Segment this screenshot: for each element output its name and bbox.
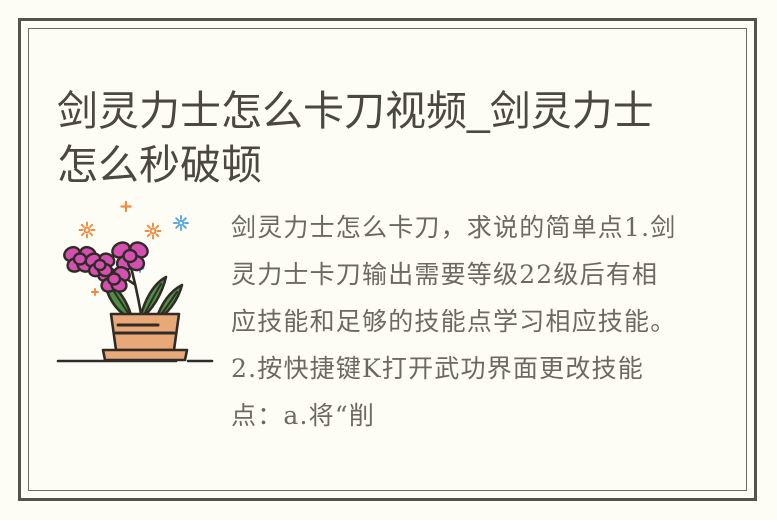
orchid-flower-mid-left <box>84 251 117 278</box>
article-body-text: 剑灵力士怎么卡刀，求说的简单点1.剑灵力士卡刀输出需要等级22级后有相应技能和足… <box>231 204 683 439</box>
sparkle-icon-blue-top-right <box>174 216 188 230</box>
potted-orchid-illustration <box>48 192 218 370</box>
sparkle-icon-orange-small <box>92 289 98 295</box>
flower-pot <box>103 314 187 360</box>
sparkle-icon-orange-top <box>122 202 131 211</box>
article-content-row: 剑灵力士怎么卡刀，求说的简单点1.剑灵力士卡刀输出需要等级22级后有相应技能和足… <box>48 192 708 472</box>
page-title: 剑灵力士怎么卡刀视频_剑灵力士怎么秒破顿 <box>57 84 677 192</box>
orchid-flower-top <box>110 240 150 273</box>
article-card: 剑灵力士怎么卡刀视频_剑灵力士怎么秒破顿 <box>0 0 777 520</box>
sparkle-icon-orange-right <box>146 224 161 239</box>
sparkle-icon-orange-left <box>80 223 95 238</box>
